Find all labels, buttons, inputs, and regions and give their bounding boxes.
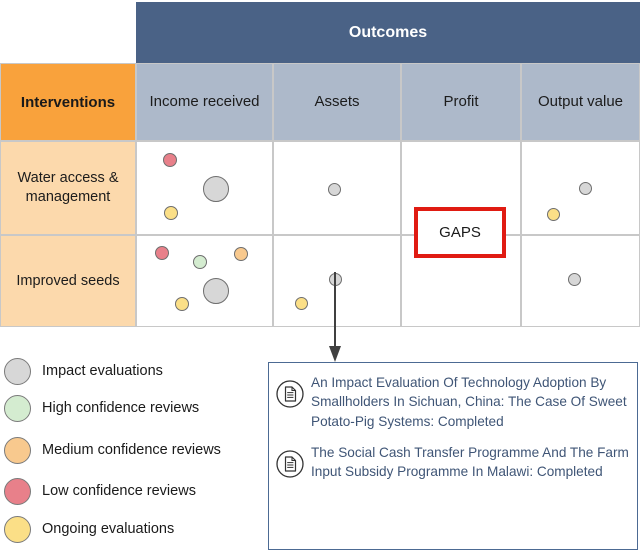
legend: Impact evaluationsHigh confidence review… — [0, 355, 262, 552]
bubble-impact-evaluation[interactable] — [203, 176, 229, 202]
legend-item[interactable]: Low confidence reviews — [4, 477, 196, 505]
study-entry-title: The Social Cash Transfer Programme And T… — [311, 443, 629, 482]
legend-swatch-circle-icon — [4, 437, 31, 464]
evidence-gap-map-matrix: Outcomes Interventions Income received A… — [0, 0, 640, 328]
row-header-improved-seeds: Improved seeds — [0, 235, 136, 327]
study-detail-panel: An Impact Evaluation Of Technology Adopt… — [268, 362, 638, 550]
legend-item-label: High confidence reviews — [42, 400, 199, 416]
column-header-assets: Assets — [273, 63, 401, 141]
bubble-impact-evaluation[interactable] — [568, 273, 581, 286]
study-entry-title: An Impact Evaluation Of Technology Adopt… — [311, 373, 629, 431]
outcomes-header: Outcomes — [136, 2, 640, 63]
gaps-label: GAPS — [439, 224, 481, 241]
document-icon — [275, 449, 305, 479]
legend-item-label: Low confidence reviews — [42, 483, 196, 499]
bubble-ongoing-evaluation[interactable] — [295, 297, 308, 310]
bubble-low-confidence-review[interactable] — [155, 246, 169, 260]
legend-swatch-circle-icon — [4, 516, 31, 543]
column-header-income-received: Income received — [136, 63, 273, 141]
bubble-impact-evaluation[interactable] — [328, 183, 341, 196]
legend-swatch-circle-icon — [4, 478, 31, 505]
legend-swatch-circle-icon — [4, 395, 31, 422]
legend-item[interactable]: Ongoing evaluations — [4, 515, 174, 543]
bubble-ongoing-evaluation[interactable] — [164, 206, 178, 220]
legend-item[interactable]: High confidence reviews — [4, 394, 199, 422]
gaps-callout-box: GAPS — [414, 207, 506, 258]
bubble-ongoing-evaluation[interactable] — [547, 208, 560, 221]
legend-item[interactable]: Medium confidence reviews — [4, 436, 221, 464]
column-header-output-value: Output value — [521, 63, 640, 141]
legend-swatch-circle-icon — [4, 358, 31, 385]
bubble-high-confidence-review[interactable] — [193, 255, 207, 269]
bubble-low-confidence-review[interactable] — [163, 153, 177, 167]
legend-item-label: Ongoing evaluations — [42, 521, 174, 537]
matrix-corner-blank — [0, 2, 136, 63]
study-entry[interactable]: An Impact Evaluation Of Technology Adopt… — [275, 373, 629, 431]
legend-item[interactable]: Impact evaluations — [4, 357, 163, 385]
legend-item-label: Impact evaluations — [42, 363, 163, 379]
row-header-water-access-management: Water access & management — [0, 141, 136, 235]
bubble-impact-evaluation[interactable] — [579, 182, 592, 195]
column-header-profit: Profit — [401, 63, 521, 141]
bubble-ongoing-evaluation[interactable] — [175, 297, 189, 311]
bubble-impact-evaluation[interactable] — [203, 278, 229, 304]
callout-arrow-icon — [318, 272, 354, 364]
legend-item-label: Medium confidence reviews — [42, 442, 221, 458]
cell-seeds-output[interactable] — [521, 235, 640, 327]
bubble-medium-confidence-review[interactable] — [234, 247, 248, 261]
document-icon — [275, 379, 305, 409]
interventions-header: Interventions — [0, 63, 136, 141]
study-entry[interactable]: The Social Cash Transfer Programme And T… — [275, 443, 629, 482]
